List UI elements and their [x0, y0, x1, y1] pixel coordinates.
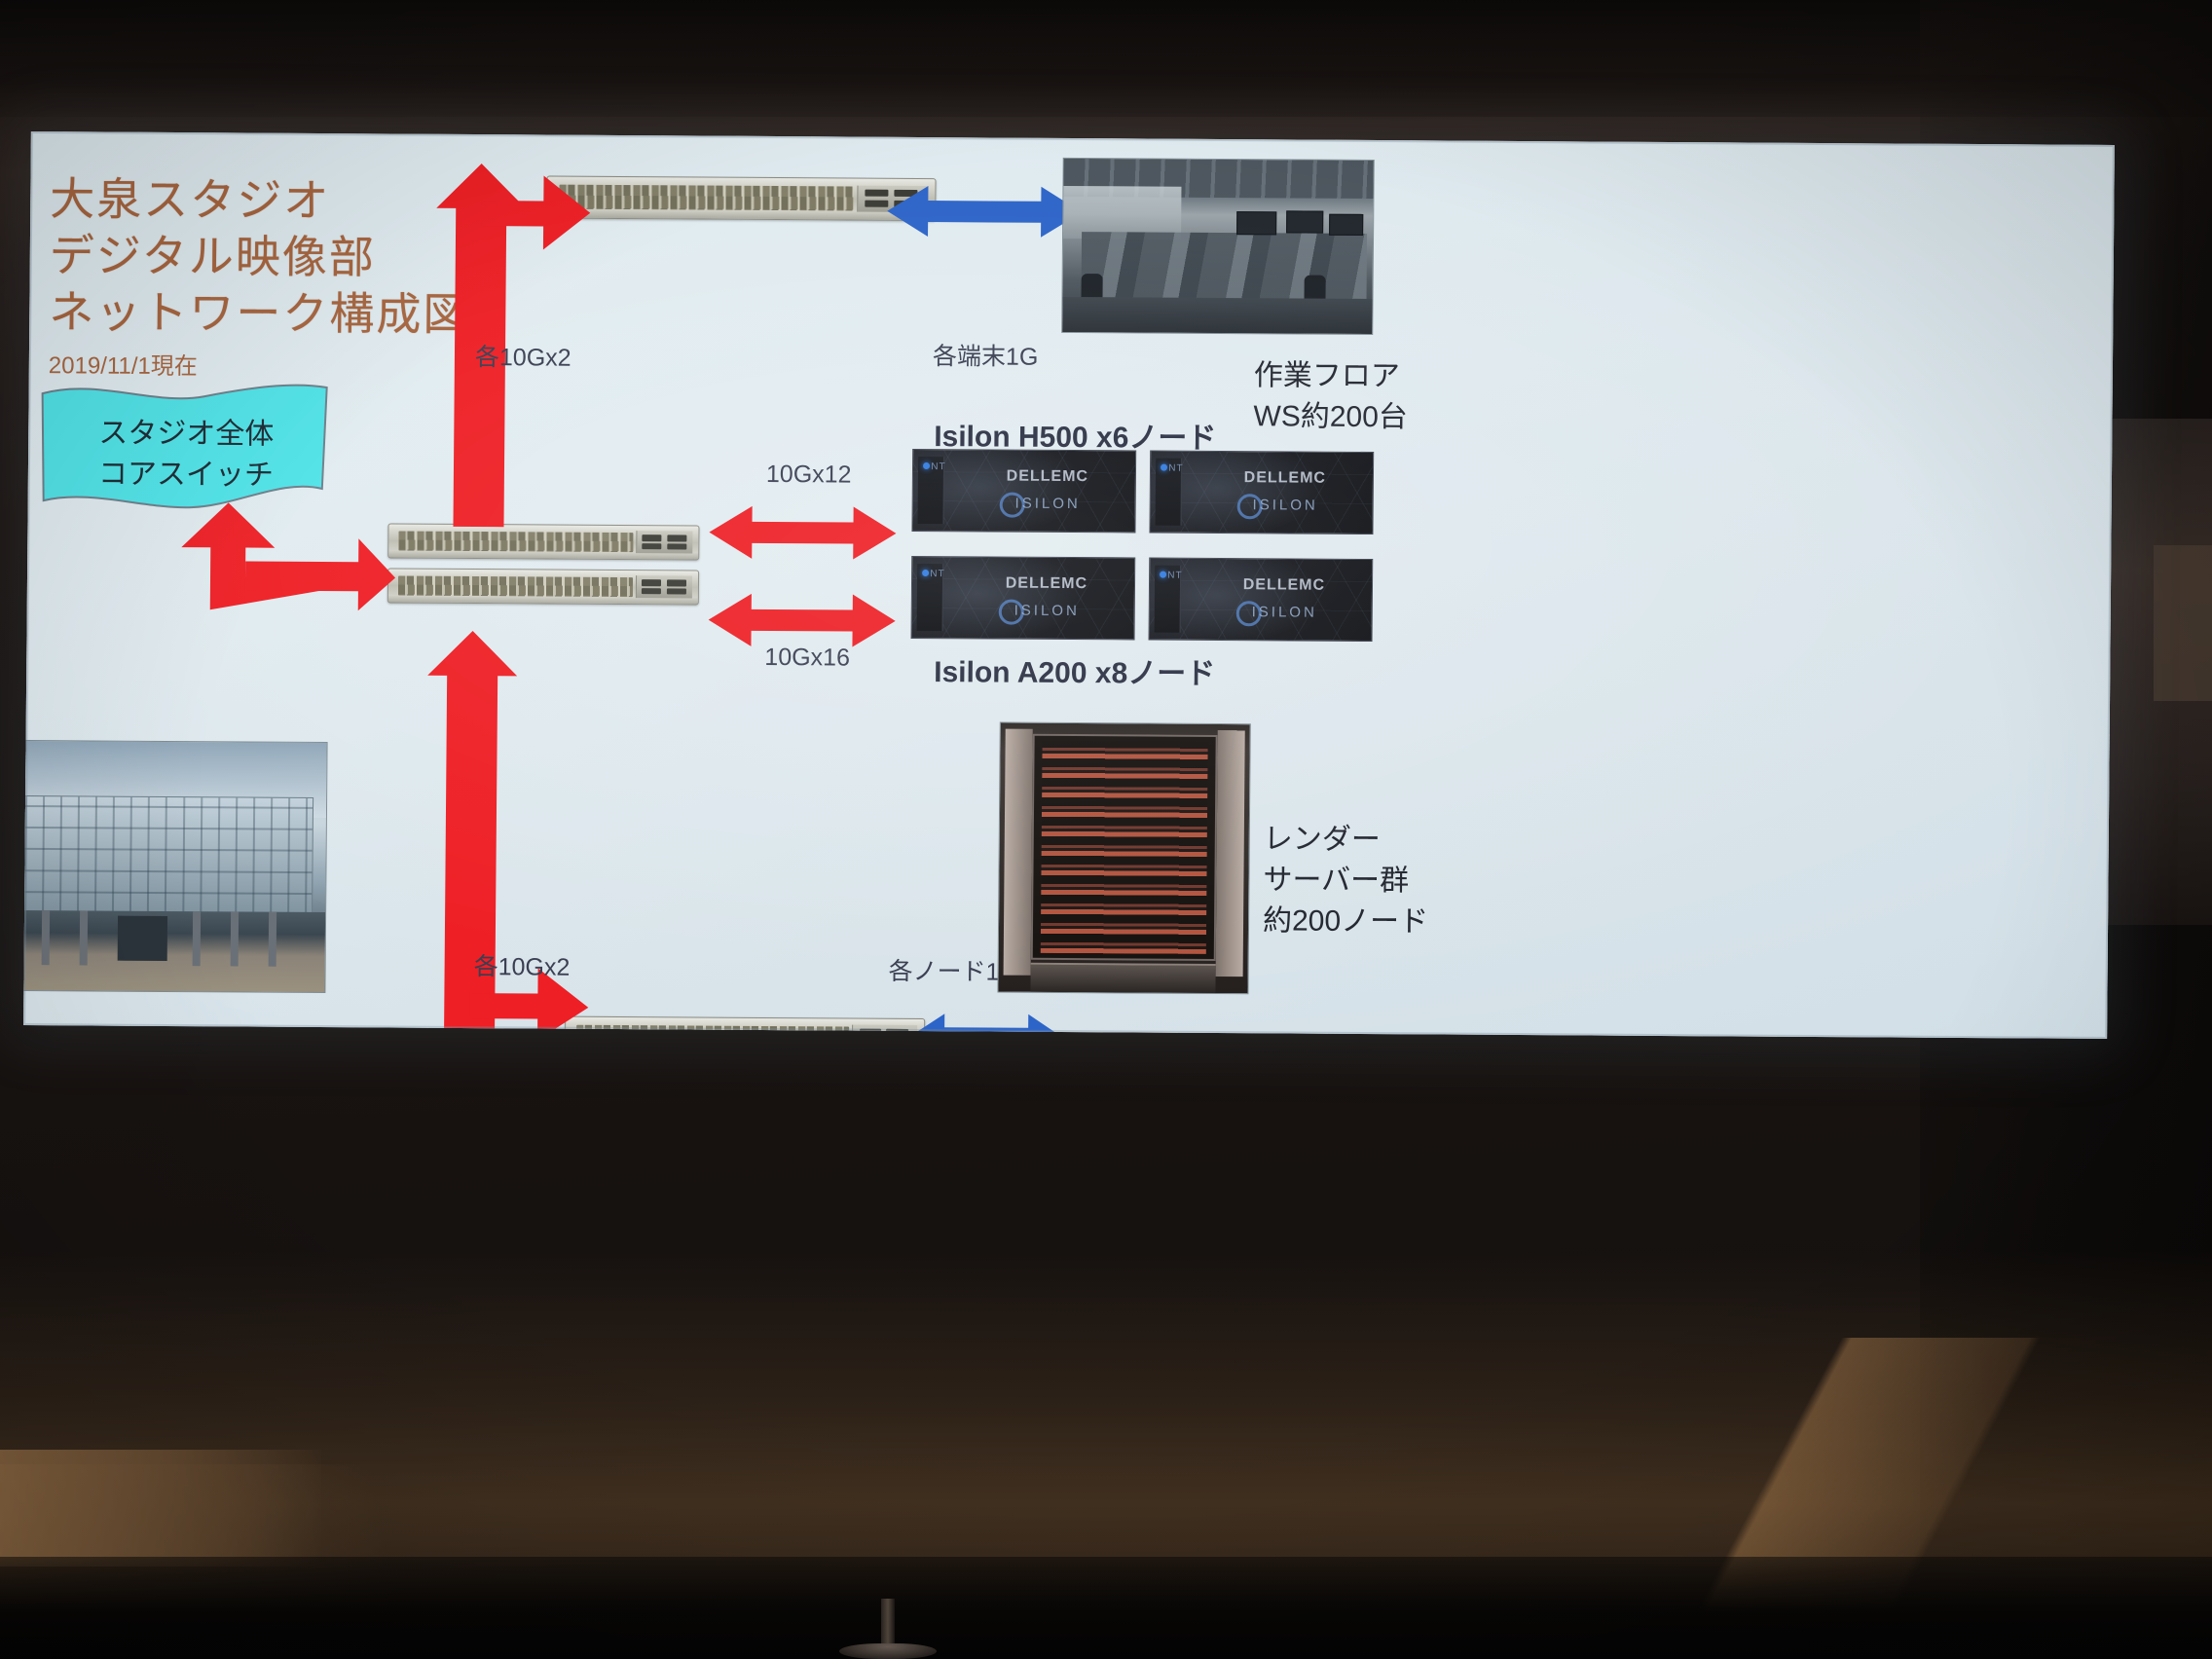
core-switch-banner: スタジオ全体 コアスイッチ	[38, 380, 331, 518]
status-led	[1161, 464, 1167, 471]
office-monitor	[1286, 210, 1323, 233]
label-work-floor: 作業フロア WS約200台	[1253, 355, 1408, 438]
office-monitor	[1236, 211, 1277, 234]
arrow-isilon-h500-link	[709, 504, 896, 562]
isilon-node-2: NT DELLEMC ISILON	[1149, 451, 1374, 535]
status-led	[1160, 571, 1166, 578]
node-tag: NT	[1168, 462, 1183, 473]
label-isilon-a200-link: 10Gx16	[764, 641, 850, 675]
product-label: ISILON	[1014, 603, 1080, 619]
work-floor-line-2: WS約200台	[1253, 396, 1408, 438]
photo-studio-building	[23, 740, 327, 993]
label-workstation-link: 各端末1G	[933, 340, 1039, 374]
brand-label: DELLEMC	[1006, 575, 1088, 594]
rack-right-panel	[1215, 730, 1244, 977]
hex-pattern	[1150, 559, 1373, 641]
office-monitor	[1330, 214, 1364, 236]
node-tag: NT	[931, 461, 945, 472]
brand-label: DELLEMC	[1007, 468, 1088, 487]
banner-text: スタジオ全体 コアスイッチ	[98, 414, 333, 498]
product-label: ISILON	[1252, 605, 1317, 621]
status-led	[922, 570, 929, 576]
page-title-line-2: デジタル映像部	[50, 227, 470, 286]
page-title-line-1: 大泉スタジオ	[50, 170, 470, 230]
microphone-base	[839, 1643, 937, 1659]
node-tag: NT	[1167, 570, 1182, 580]
rack-cabinet	[1031, 734, 1217, 961]
switch-uplink-module	[637, 532, 692, 554]
brand-label: DELLEMC	[1243, 576, 1325, 595]
building-pillar	[80, 911, 89, 966]
floor-panel-left	[0, 1450, 321, 1567]
building-pillar	[231, 912, 240, 967]
switch-uplink-module	[636, 576, 691, 599]
label-isilon-a200: Isilon A200 x8ノード	[934, 653, 1215, 694]
render-line-3: 約200ノード	[1263, 901, 1428, 942]
product-label: ISILON	[1015, 496, 1081, 512]
arrow-workstation-link	[887, 184, 1082, 240]
switch-port-block-lower	[398, 539, 634, 551]
switch-port-block-lower	[559, 196, 854, 210]
label-bottom-uplink: 各10Gx2	[473, 950, 570, 984]
node-tag: NT	[930, 569, 944, 579]
isilon-node-4: NT DELLEMC ISILON	[1149, 558, 1374, 642]
wall-right-wood-accent	[2154, 545, 2212, 701]
building-pillar	[268, 912, 276, 967]
hex-pattern	[912, 557, 1135, 639]
render-line-2: サーバー群	[1263, 860, 1428, 902]
building-pillar	[193, 911, 202, 966]
page-title-line-3: ネットワーク構成図	[49, 283, 469, 343]
product-label: ISILON	[1253, 498, 1318, 514]
office-floor	[1062, 297, 1372, 334]
rack-base	[1031, 962, 1216, 993]
switch-port-block-lower	[397, 584, 633, 596]
building-glass-facade	[23, 795, 313, 917]
switch-top-access	[546, 175, 936, 221]
slide-canvas: 大泉スタジオ デジタル映像部 ネットワーク構成図 2019/11/1現在 スタジ…	[23, 131, 2115, 1039]
switch-core-upper	[387, 523, 699, 560]
photo-work-floor	[1061, 158, 1375, 335]
brand-label: DELLEMC	[1244, 469, 1326, 488]
rack-left-panel	[1004, 728, 1033, 976]
stage-front-edge	[0, 1557, 2212, 1659]
isilon-node-3: NT DELLEMC ISILON	[911, 556, 1136, 640]
building-base	[23, 910, 325, 992]
switch-core-lower	[387, 568, 699, 605]
building-entrance	[117, 916, 167, 961]
photo-render-servers	[997, 722, 1250, 995]
label-top-uplink: 各10Gx2	[475, 341, 571, 375]
wall-top-shadow	[0, 0, 2212, 117]
isilon-node-1: NT DELLEMC ISILON	[911, 449, 1136, 533]
work-floor-line-1: 作業フロア	[1254, 355, 1409, 397]
building-pillar	[42, 910, 51, 965]
banner-line-2: コアスイッチ	[98, 455, 332, 498]
label-isilon-h500-link: 10Gx12	[766, 458, 852, 492]
slide-date: 2019/11/1現在	[49, 346, 469, 383]
label-render-servers: レンダー サーバー群 約200ノード	[1263, 819, 1429, 942]
rack-server-rows	[1040, 740, 1207, 954]
render-line-1: レンダー	[1264, 819, 1429, 861]
room-photograph: 大泉スタジオ デジタル映像部 ネットワーク構成図 2019/11/1現在 スタジ…	[0, 0, 2212, 1659]
arrow-core-to-banner	[152, 502, 396, 611]
banner-line-1: スタジオ全体	[98, 414, 332, 457]
projected-slide: 大泉スタジオ デジタル映像部 ネットワーク構成図 2019/11/1現在 スタジ…	[23, 131, 2115, 1039]
slide-title-block: 大泉スタジオ デジタル映像部 ネットワーク構成図 2019/11/1現在	[49, 170, 471, 383]
status-led	[923, 462, 930, 469]
hex-pattern	[1150, 452, 1373, 534]
hex-pattern	[912, 450, 1135, 532]
